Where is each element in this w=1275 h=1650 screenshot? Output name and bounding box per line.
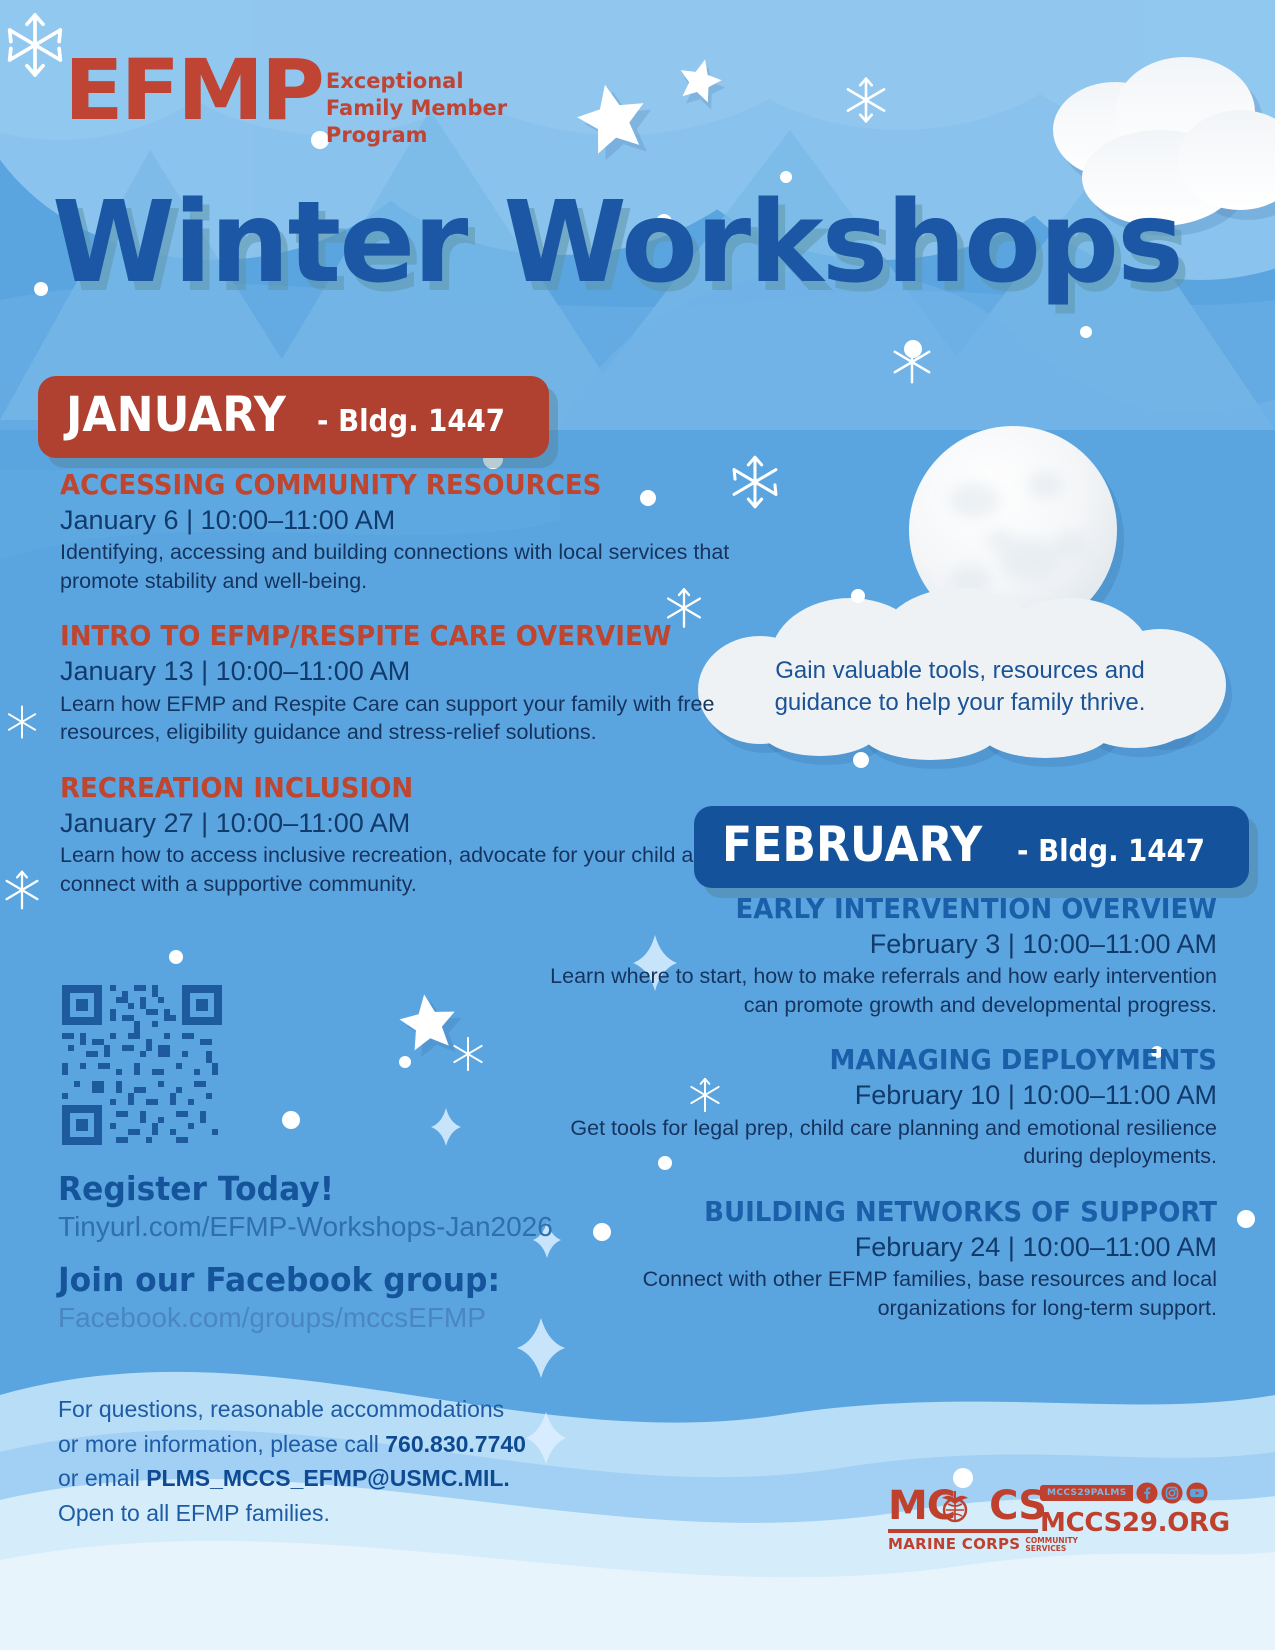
workshop-datetime: February 3 | 10:00–11:00 AM [537,928,1217,960]
register-heading: Register Today! [58,1170,628,1209]
mccs-tagline-main: MARINE CORPS [888,1535,1020,1553]
mccs-wordmark-cs: CS [989,1483,1046,1529]
mccs-tagline-small-2: SERVICES [1025,1545,1078,1553]
facebook-group-link[interactable]: Facebook.com/groups/mccsEFMP [58,1300,658,1336]
workshop-description: Learn where to start, how to make referr… [537,962,1217,1019]
january-month-badge: JANUARY - Bldg. 1447 [38,376,549,458]
february-badge-building: - Bldg. 1447 [1017,834,1205,869]
workshop-datetime: January 13 | 10:00–11:00 AM [60,655,740,687]
workshop-description: Identifying, accessing and building conn… [60,538,740,595]
workshop-datetime: January 6 | 10:00–11:00 AM [60,504,740,536]
workshop-title: BUILDING NETWORKS OF SUPPORT [585,1197,1217,1228]
efmp-subtitle-line-2: Family Member [326,95,507,122]
page-title: Winter Workshops [52,178,1182,308]
workshop-datetime: February 10 | 10:00–11:00 AM [537,1079,1217,1111]
cloud-callout: Gain valuable tools, resources and guida… [700,612,1220,762]
social-icon-row: MCCS29PALMS [1040,1482,1230,1504]
social-media-block: MCCS29PALMS MCCS29.ORG [1040,1482,1230,1538]
january-badge-building: - Bldg. 1447 [317,404,505,439]
efmp-subtitle-line-1: Exceptional [326,68,507,95]
contact-call-prefix: or more information, please call [58,1431,385,1457]
workshop-description: Learn how EFMP and Respite Care can supp… [60,690,740,747]
cloud-callout-text: Gain valuable tools, resources and guida… [700,612,1220,762]
workshop-title: ACCESSING COMMUNITY RESOURCES [60,470,692,501]
youtube-icon[interactable] [1186,1482,1208,1504]
workshop-description: Learn how to access inclusive recreation… [60,841,740,898]
contact-email-prefix: or email [58,1465,146,1491]
workshop-title: MANAGING DEPLOYMENTS [585,1045,1217,1076]
instagram-icon[interactable] [1161,1482,1183,1504]
mccs-website-url[interactable]: MCCS29.ORG [1040,1508,1230,1538]
workshop-title: RECREATION INCLUSION [60,773,692,804]
social-handle-label: MCCS29PALMS [1040,1485,1133,1501]
mccs-divider-rule [888,1529,1038,1533]
contact-information: For questions, reasonable accommodations… [58,1392,658,1530]
efmp-logo-text: EFMP [64,56,322,125]
contact-line-3: or email PLMS_MCCS_EFMP@USMC.MIL. [58,1461,658,1496]
january-badge-month: JANUARY [66,387,286,443]
contact-line-2: or more information, please call 760.830… [58,1427,658,1462]
efmp-brand-header: EFMP Exceptional Family Member Program [64,56,507,149]
efmp-subtitle-line-3: Program [326,122,507,149]
contact-line-4: Open to all EFMP families. [58,1496,658,1531]
february-badge-month: FEBRUARY [722,817,982,873]
register-url-link[interactable]: Tinyurl.com/EFMP-Workshops-Jan2026 [58,1209,658,1245]
workshop-title: EARLY INTERVENTION OVERVIEW [585,894,1217,925]
workshop-item: RECREATION INCLUSION January 27 | 10:00–… [60,773,740,898]
workshop-datetime: January 27 | 10:00–11:00 AM [60,807,740,839]
registration-block: Register Today! Tinyurl.com/EFMP-Worksho… [58,1170,658,1337]
workshop-item: EARLY INTERVENTION OVERVIEW February 3 |… [537,894,1217,1019]
mccs-tagline-small: COMMUNITY SERVICES [1025,1537,1078,1553]
efmp-logo-subtitle: Exceptional Family Member Program [326,56,507,149]
workshop-item: ACCESSING COMMUNITY RESOURCES January 6 … [60,470,740,595]
workshop-item: MANAGING DEPLOYMENTS February 10 | 10:00… [537,1045,1217,1170]
facebook-group-heading: Join our Facebook group: [58,1261,628,1300]
poster-root: EFMP Exceptional Family Member Program W… [0,0,1275,1650]
january-workshop-list: ACCESSING COMMUNITY RESOURCES January 6 … [60,470,740,924]
contact-line-1: For questions, reasonable accommodations [58,1392,658,1427]
facebook-icon[interactable] [1136,1482,1158,1504]
eagle-globe-anchor-icon [938,1490,972,1524]
workshop-item: INTRO TO EFMP/RESPITE CARE OVERVIEW Janu… [60,621,740,746]
contact-email-address[interactable]: PLMS_MCCS_EFMP@USMC.MIL. [146,1465,510,1491]
february-month-badge: FEBRUARY - Bldg. 1447 [694,806,1249,888]
workshop-description: Get tools for legal prep, child care pla… [537,1114,1217,1171]
workshop-title: INTRO TO EFMP/RESPITE CARE OVERVIEW [60,621,692,652]
contact-phone-number[interactable]: 760.830.7740 [385,1431,526,1457]
